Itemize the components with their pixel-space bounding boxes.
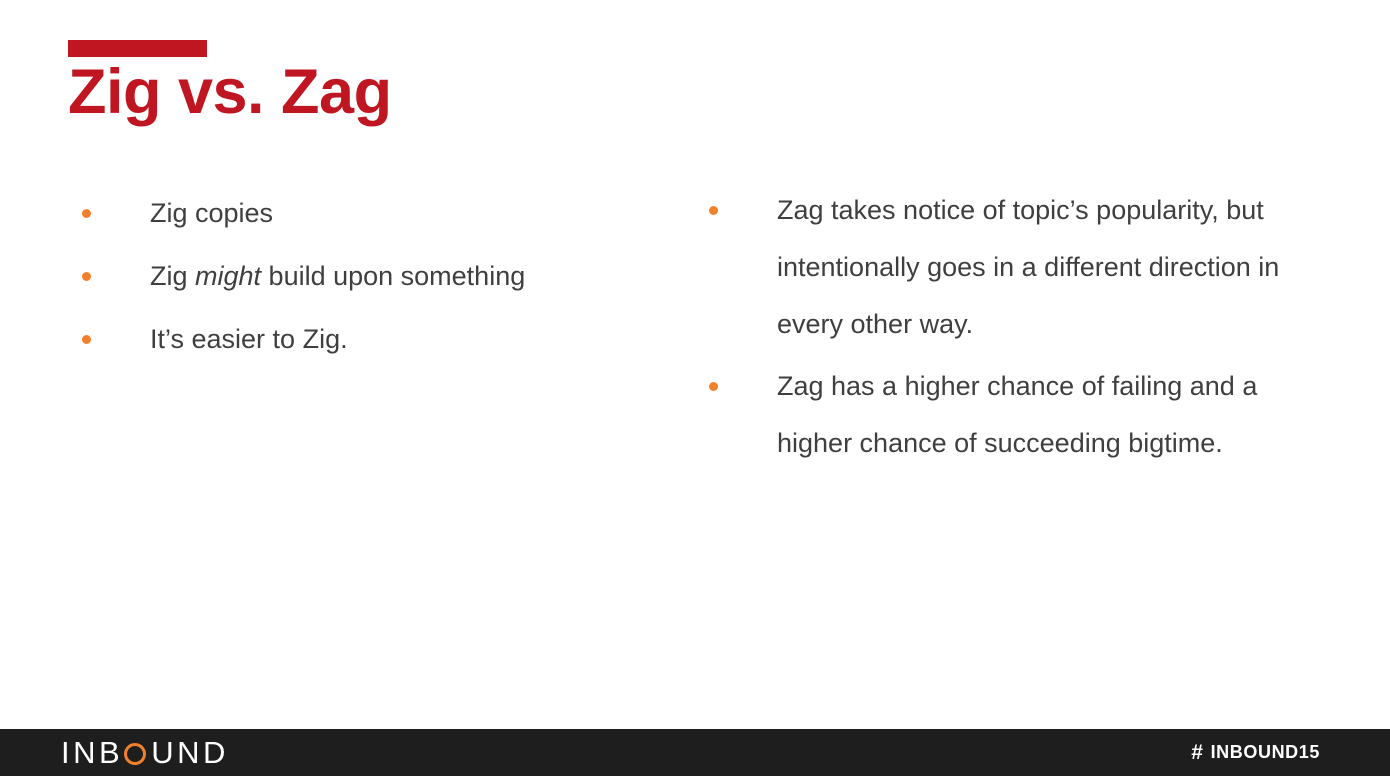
page-title: Zig vs. Zag	[68, 57, 768, 127]
list-item: Zig copies	[68, 182, 635, 245]
list-item-label: Zag has a higher chance of failing and a…	[777, 358, 1335, 472]
event-hashtag: # INBOUND15	[1191, 742, 1320, 763]
title-block: Zig vs. Zag	[68, 40, 768, 127]
list-item-label: Zag takes notice of topic’s popularity, …	[777, 182, 1335, 353]
event-hashtag-label: INBOUND15	[1211, 742, 1320, 763]
bullet-column-right: Zag takes notice of topic’s popularity, …	[655, 182, 1355, 477]
footer-bar: INB UND # INBOUND15	[0, 729, 1390, 776]
list-item-label: Zig copies	[150, 182, 635, 245]
ring-o-icon	[124, 743, 146, 765]
list-item: Zag takes notice of topic’s popularity, …	[695, 182, 1335, 353]
bullet-dot-icon	[82, 335, 91, 344]
logo-text-suffix: UND	[151, 737, 229, 768]
body-columns: Zig copiesZig might build upon something…	[0, 182, 1390, 477]
list-item: It’s easier to Zig.	[68, 308, 635, 371]
list-item-label: Zig might build upon something	[150, 245, 635, 308]
title-accent-bar	[68, 40, 207, 57]
bullet-dot-icon	[82, 272, 91, 281]
bullet-dot-icon	[709, 382, 718, 391]
bullet-dot-icon	[709, 206, 718, 215]
bullet-list-right: Zag takes notice of topic’s popularity, …	[695, 182, 1335, 472]
logo-text-prefix: INB	[61, 737, 123, 768]
list-item: Zag has a higher chance of failing and a…	[695, 358, 1335, 472]
inbound-logo: INB UND	[61, 737, 229, 768]
bullet-list-left: Zig copiesZig might build upon something…	[68, 182, 635, 371]
bullet-dot-icon	[82, 209, 91, 218]
bullet-column-left: Zig copiesZig might build upon something…	[0, 182, 655, 371]
hash-icon: #	[1191, 742, 1203, 763]
list-item: Zig might build upon something	[68, 245, 635, 308]
emphasized-word: might	[195, 261, 261, 291]
list-item-label: It’s easier to Zig.	[150, 308, 635, 371]
slide: Zig vs. Zag Zig copiesZig might build up…	[0, 0, 1390, 776]
